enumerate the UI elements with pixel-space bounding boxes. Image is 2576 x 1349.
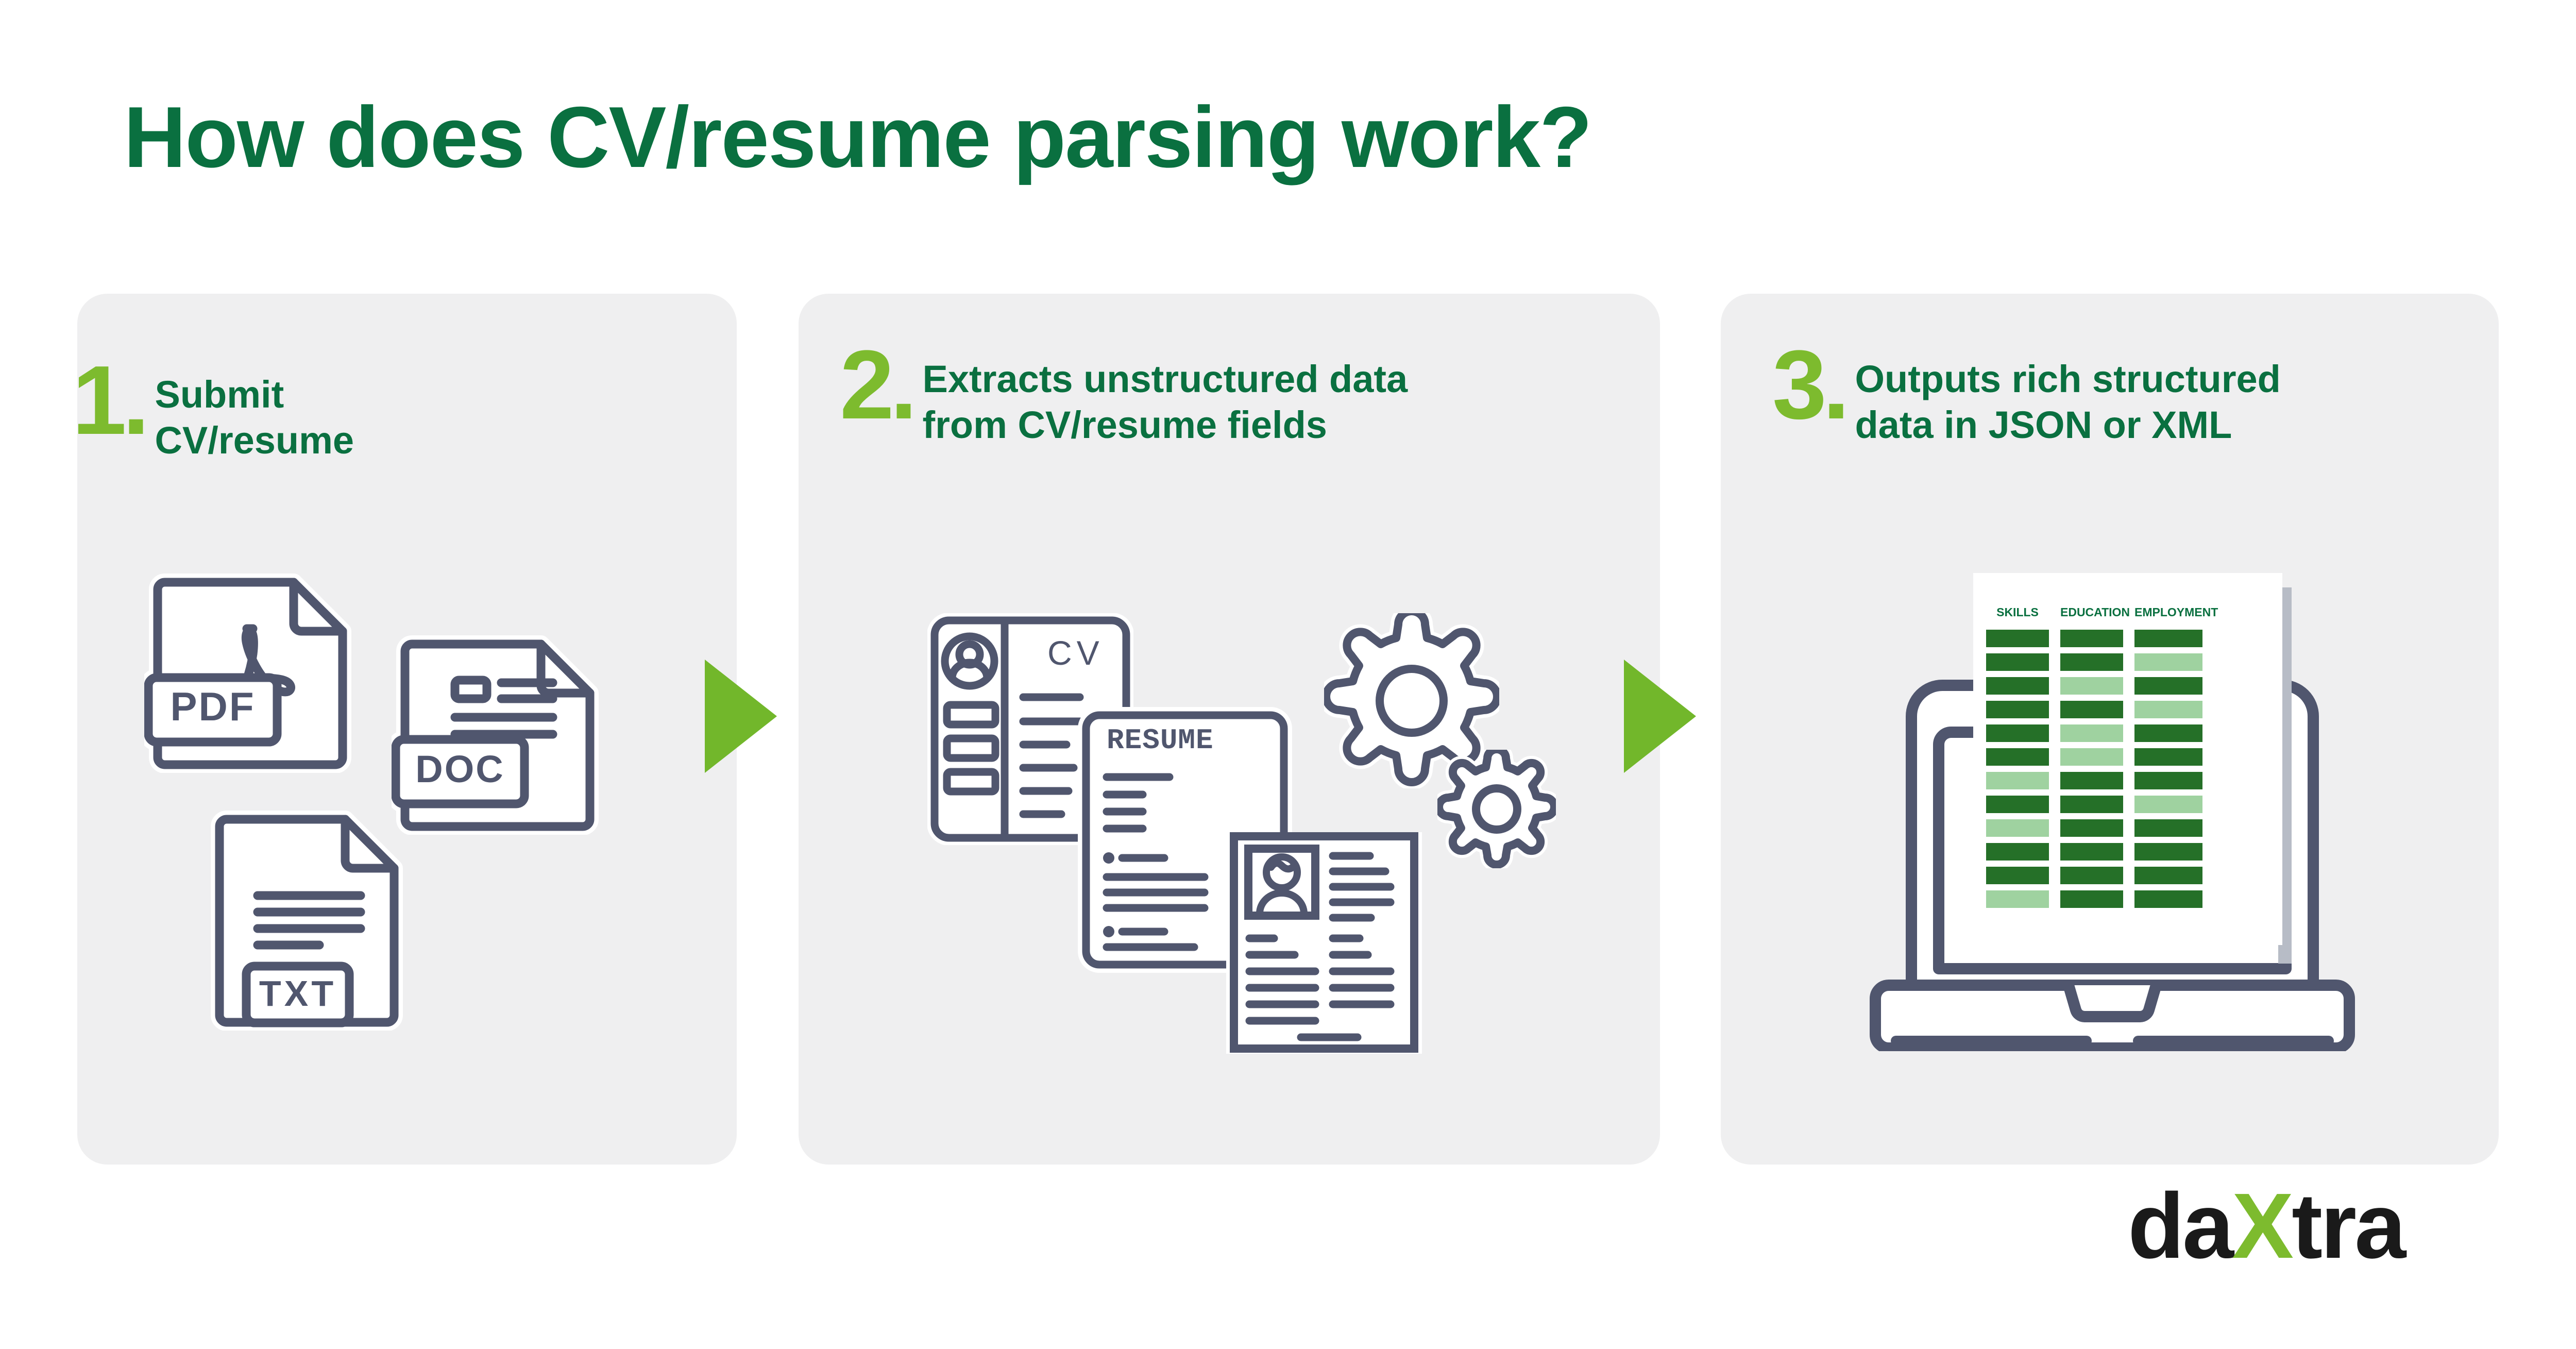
table-cell-skills [1986,748,2049,766]
step-1-header: 1. Submit CV/resume [72,361,354,464]
table-cell-skills [1986,724,2049,742]
table-column-header-employment: EMPLOYMENT [2134,605,2202,619]
table-cell-employment [2134,867,2202,884]
table-cell-education [2060,772,2123,789]
step-2-number: 2. [840,345,913,426]
resume-label: RESUME [1107,724,1214,757]
gear-small-icon [1437,750,1556,868]
table-cell-employment [2134,890,2202,908]
table-cell-education [2060,819,2123,837]
doc-file-icon: DOC [392,629,608,835]
cv-label: CV [1047,634,1104,672]
step-3-number: 3. [1772,345,1845,426]
table-row [1986,890,2202,908]
step-2-header: 2. Extracts unstructured data from CV/re… [840,345,1408,448]
table-cell-skills [1986,701,2049,718]
table-cell-education [2060,724,2123,742]
table-row [1986,867,2202,884]
table-cell-employment [2134,653,2202,671]
txt-file-icon: TXT [206,804,412,1031]
table-cell-skills [1986,890,2049,908]
step-3-text: Outputs rich structured data in JSON or … [1855,345,2280,448]
output-table: SKILLS EDUCATION EMPLOYMENT [1986,605,2202,914]
logo-accent-x: X [2232,1174,2292,1278]
table-column-header-skills: SKILLS [1986,605,2049,619]
table-cell-education [2060,653,2123,671]
daxtra-logo: daXtra [2128,1180,2404,1273]
table-row [1986,630,2202,647]
table-cell-employment [2134,701,2202,718]
doc-label: DOC [415,748,504,790]
table-cell-education [2060,867,2123,884]
table-cell-education [2060,701,2123,718]
table-row [1986,843,2202,861]
table-cell-employment [2134,819,2202,837]
table-cell-employment [2134,748,2202,766]
table-cell-employment [2134,772,2202,789]
table-cell-skills [1986,819,2049,837]
table-cell-skills [1986,630,2049,647]
table-row [1986,796,2202,813]
page-title: How does CV/resume parsing work? [124,88,1591,187]
table-row [1986,653,2202,671]
logo-part-2: tra [2292,1174,2404,1278]
table-cell-skills [1986,677,2049,695]
table-cell-employment [2134,677,2202,695]
table-column-header-education: EDUCATION [2060,605,2123,619]
step-2-text: Extracts unstructured data from CV/resum… [922,345,1408,448]
table-cell-education [2060,890,2123,908]
table-cell-education [2060,843,2123,861]
table-cell-employment [2134,724,2202,742]
table-row [1986,772,2202,789]
pdf-file-icon: PDF [144,567,361,773]
arrow-step2-to-step3 [1624,660,1696,773]
logo-part-1: da [2128,1174,2232,1278]
table-cell-skills [1986,653,2049,671]
table-cell-skills [1986,772,2049,789]
table-cell-skills [1986,867,2049,884]
table-cell-education [2060,630,2123,647]
table-row [1986,724,2202,742]
table-cell-skills [1986,796,2049,813]
txt-label: TXT [259,973,336,1014]
arrow-step1-to-step2 [705,660,777,773]
table-row [1986,819,2202,837]
pdf-label: PDF [171,684,256,729]
table-cell-employment [2134,843,2202,861]
table-cell-employment [2134,796,2202,813]
step-1-number: 1. [72,361,145,441]
photo-resume-document [1224,832,1425,1054]
table-cell-education [2060,748,2123,766]
table-row [1986,748,2202,766]
step-3-header: 3. Outputs rich structured data in JSON … [1772,345,2281,448]
table-cell-employment [2134,630,2202,647]
step-1-text: Submit CV/resume [155,361,354,464]
table-cell-education [2060,796,2123,813]
table-cell-education [2060,677,2123,695]
table-row [1986,677,2202,695]
table-cell-skills [1986,843,2049,861]
table-row [1986,701,2202,718]
